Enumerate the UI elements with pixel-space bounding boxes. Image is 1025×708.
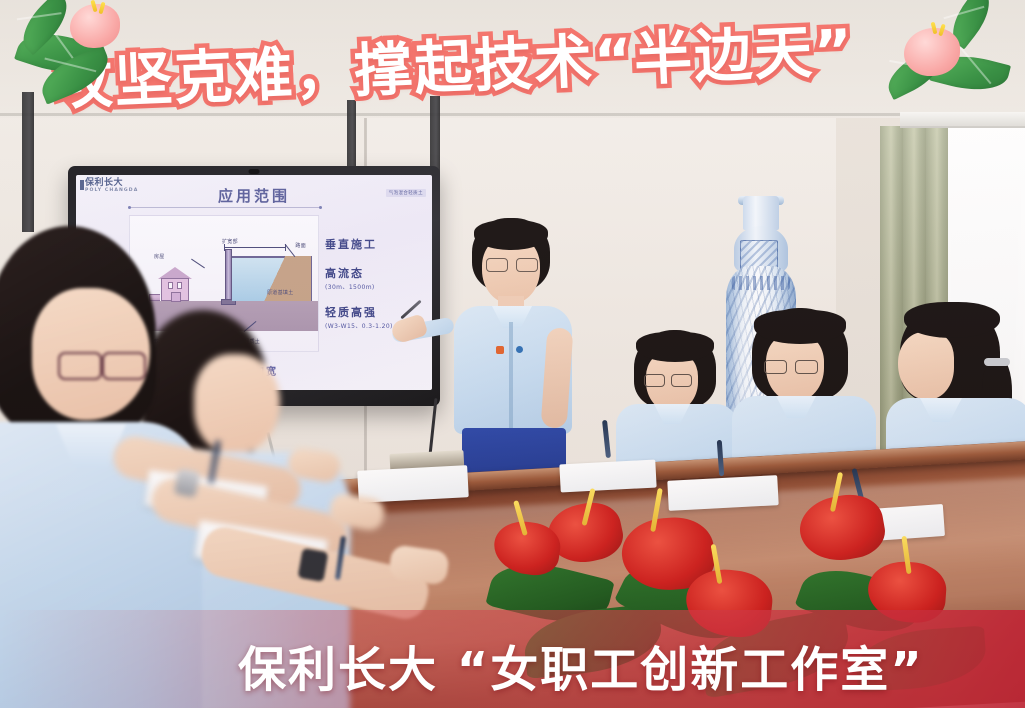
notepad	[357, 465, 469, 503]
slide-corner-tag: 气泡混合轻质土	[386, 189, 426, 197]
widening-dimension-line	[224, 247, 286, 248]
display-camera-icon	[249, 169, 260, 174]
decoration-left	[14, 2, 164, 114]
vase-pattern-band	[732, 276, 790, 290]
attendee-fringe	[636, 332, 714, 362]
wristwatch	[298, 548, 329, 582]
vase-neck	[743, 196, 779, 230]
bullet-2-sub: (30m、1500m)	[325, 282, 425, 291]
presenter-glasses	[486, 258, 538, 270]
poster-root: 保利长大 POLY CHANGDA 应用范围 气泡混合轻质土	[0, 0, 1025, 708]
attendee-glasses	[764, 360, 818, 372]
presenter-button-placket	[509, 322, 513, 434]
attendee-fringe	[754, 310, 846, 344]
presenter	[440, 218, 590, 488]
attendee-face	[898, 332, 954, 400]
presenter-badge	[496, 346, 504, 354]
attendee-hair-tie	[984, 358, 1010, 366]
bullet-2-main: 高流态	[325, 265, 425, 281]
slide-title: 应用范围	[76, 185, 432, 206]
blossom-icon	[904, 28, 960, 76]
anthurium-bloom	[795, 489, 889, 567]
attendee-glasses	[58, 352, 146, 376]
bullet-1-main: 垂直施工	[325, 236, 425, 252]
slide-divider	[130, 207, 320, 208]
presenter-fringe	[474, 220, 548, 250]
banner-caption: 保利长大 “女职工创新工作室”	[238, 630, 924, 700]
label-original-fill: 原道基填土	[267, 289, 294, 296]
attendee-fringe	[904, 302, 1000, 338]
bottom-banner: 保利长大 “女职工创新工作室”	[0, 610, 1025, 708]
label-road: 路面	[295, 242, 306, 249]
presenter-pin	[516, 346, 523, 353]
decoration-right	[876, 0, 1025, 118]
attendee-glasses	[644, 374, 692, 385]
